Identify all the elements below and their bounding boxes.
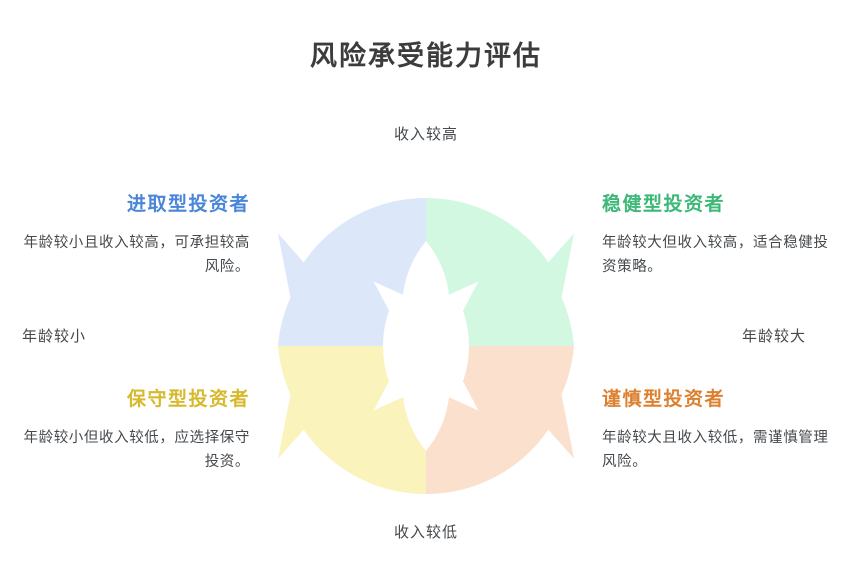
quadrant-bottom-left-description: 年龄较小但收入较低，应选择保守投资。 xyxy=(18,427,250,475)
quadrant-top-left-description: 年龄较小且收入较高，可承担较高风险。 xyxy=(18,232,250,280)
ring-segment-bottom-left[interactable] xyxy=(278,346,426,494)
ring-segment-bottom-right[interactable] xyxy=(426,346,574,494)
diagram-canvas: 风险承受能力评估 收入较高 收入较低 年龄较小 年龄较大 进取型投资者 年龄较小… xyxy=(0,0,852,567)
quadrant-top-left[interactable]: 进取型投资者 年龄较小且收入较高，可承担较高风险。 xyxy=(18,193,250,280)
cycle-ring-diagram xyxy=(278,198,574,494)
quadrant-bottom-right[interactable]: 谨慎型投资者 年龄较大且收入较低，需谨慎管理风险。 xyxy=(602,388,834,475)
quadrant-bottom-left-title: 保守型投资者 xyxy=(18,388,250,413)
quadrant-top-right[interactable]: 稳健型投资者 年龄较大但收入较高，适合稳健投资策略。 xyxy=(602,193,834,280)
quadrant-bottom-right-title: 谨慎型投资者 xyxy=(602,388,834,413)
quadrant-bottom-left[interactable]: 保守型投资者 年龄较小但收入较低，应选择保守投资。 xyxy=(18,388,250,475)
axis-label-right: 年龄较大 xyxy=(742,325,806,346)
ring-segment-top-right[interactable] xyxy=(426,198,574,346)
quadrant-top-right-title: 稳健型投资者 xyxy=(602,193,834,218)
page-title: 风险承受能力评估 xyxy=(0,34,852,73)
quadrant-top-right-description: 年龄较大但收入较高，适合稳健投资策略。 xyxy=(602,232,834,280)
axis-label-bottom: 收入较低 xyxy=(0,521,852,542)
ring-segment-top-left[interactable] xyxy=(278,198,426,346)
axis-label-left: 年龄较小 xyxy=(22,325,86,346)
axis-label-top: 收入较高 xyxy=(0,123,852,144)
quadrant-bottom-right-description: 年龄较大且收入较低，需谨慎管理风险。 xyxy=(602,427,834,475)
quadrant-top-left-title: 进取型投资者 xyxy=(18,193,250,218)
